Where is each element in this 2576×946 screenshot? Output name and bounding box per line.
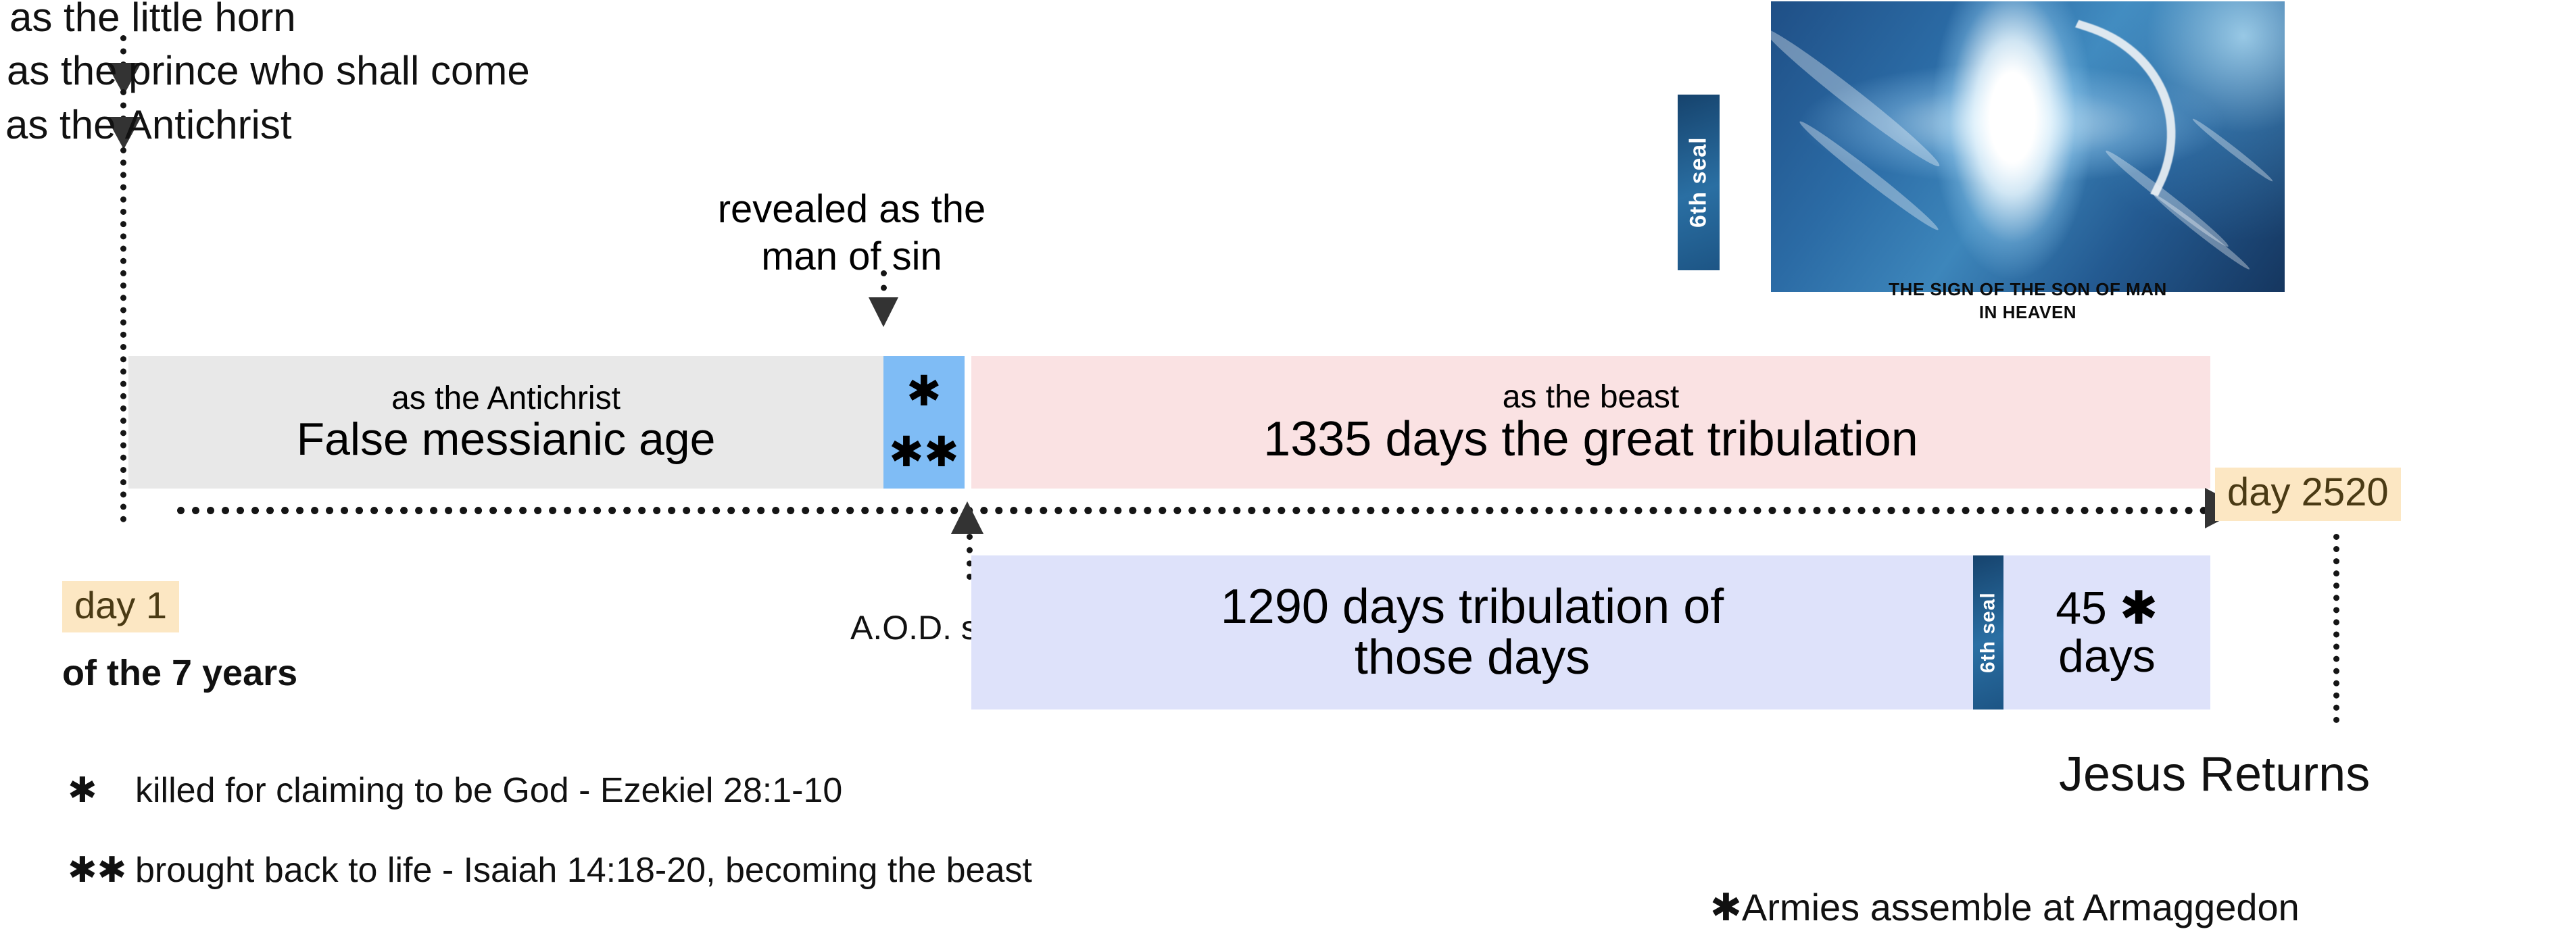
cascade-label-little-horn: as the little horn [9, 0, 296, 38]
revealed-callout-line2: man of sin [676, 235, 1027, 279]
footnote-1-marker: ✱ [68, 770, 135, 811]
bar-45-line2: days [2003, 632, 2210, 680]
bar-death-resurrection[interactable]: ✱ ✱✱ [883, 356, 965, 489]
armies-armageddon-label: ✱Armies assemble at Armaggedon [1710, 885, 2300, 930]
bar-false-messianic-main: False messianic age [128, 416, 883, 464]
bar-false-messianic-sub: as the Antichrist [128, 382, 883, 416]
bar-1290-line1: 1290 days tribulation of [971, 582, 1973, 632]
bar-forty-five-days[interactable]: 45 ✱ days [2003, 555, 2210, 709]
bar-great-tribulation-main: 1335 days the great tribulation [971, 414, 2210, 465]
bar-great-tribulation-sub: as the beast [971, 380, 2210, 414]
bar-45-line1: 45 ✱ [2003, 584, 2210, 632]
aod-arrow-icon [951, 501, 983, 534]
hook-shape-icon [2015, 20, 2221, 196]
seal-image-caption-line1: THE SIGN OF THE SON OF MAN [1771, 278, 2285, 301]
start-vertical-guide [120, 147, 126, 522]
day-2520-tag: day 2520 [2215, 468, 2401, 521]
bar-tribulation-of-those-days[interactable]: 1290 days tribulation of those days [971, 555, 1973, 709]
end-vertical-guide [2333, 534, 2339, 723]
cascade-label-prince: as the prince who shall come [7, 51, 530, 91]
revealed-callout-arrow-icon [869, 297, 898, 327]
revealed-callout-line1: revealed as the [676, 188, 1027, 232]
jesus-returns-label: Jesus Returns [2059, 747, 2370, 802]
day-1-subtext: of the 7 years [62, 652, 297, 694]
star-single: ✱ [906, 362, 942, 422]
footnote-1: ✱killed for claiming to be God - Ezekiel… [68, 770, 842, 811]
bar-false-messianic-age[interactable]: as the Antichrist False messianic age [128, 356, 883, 489]
timeline-axis [177, 507, 2208, 514]
footnote-2: ✱✱brought back to life - Isaiah 14:18-20… [68, 850, 1032, 891]
sign-of-son-of-man-image [1771, 1, 2285, 292]
day-1-tag: day 1 [62, 581, 179, 632]
sixth-seal-tab-timeline: 6th seal [1973, 555, 2003, 709]
footnote-1-text: killed for claiming to be God - Ezekiel … [135, 771, 842, 810]
sixth-seal-tab-top: 6th seal [1678, 95, 1720, 270]
star-double: ✱✱ [889, 422, 959, 483]
bar-great-tribulation[interactable]: as the beast 1335 days the great tribula… [971, 356, 2210, 489]
seal-image-caption-line2: IN HEAVEN [1771, 301, 2285, 324]
cascade-label-antichrist: as the Antichrist [5, 105, 292, 145]
footnote-2-text: brought back to life - Isaiah 14:18-20, … [135, 851, 1032, 890]
bar-1290-line2: those days [971, 632, 1973, 683]
footnote-2-marker: ✱✱ [68, 850, 135, 891]
